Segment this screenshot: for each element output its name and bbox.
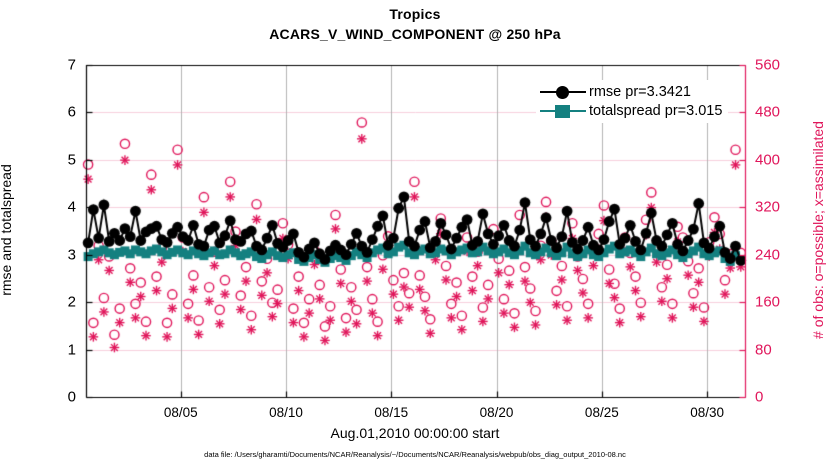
y-axis-label-right: # of obs: o=possible; x=assimilated	[810, 121, 826, 339]
y-tick-label-left: 2	[48, 294, 76, 311]
x-tick-label: 08/30	[690, 405, 724, 420]
legend-swatch-rmse	[540, 84, 586, 100]
y-tick-label-right: 320	[755, 199, 780, 216]
x-tick-label: 08/20	[480, 405, 514, 420]
x-tick-label: 08/25	[585, 405, 619, 420]
x-axis-label: Aug.01,2010 00:00:00 start	[0, 425, 830, 441]
x-tick-label: 08/15	[374, 405, 408, 420]
plot-legend: rmse pr=3.3421 totalspread pr=3.015	[536, 80, 728, 123]
y-tick-label-left: 4	[48, 199, 76, 216]
legend-item-totalspread[interactable]: totalspread pr=3.015	[540, 101, 722, 120]
x-tick-label: 08/10	[269, 405, 303, 420]
legend-item-rmse[interactable]: rmse pr=3.3421	[540, 82, 722, 101]
y-axis-label-left: rmse and totalspread	[0, 164, 14, 296]
y-tick-label-left: 0	[48, 389, 76, 406]
y-tick-label-left: 6	[48, 104, 76, 121]
y-tick-label-left: 1	[48, 341, 76, 358]
x-tick-label: 08/05	[164, 405, 198, 420]
legend-label-totalspread: totalspread pr=3.015	[589, 103, 722, 119]
y-tick-label-right: 80	[755, 341, 772, 358]
y-tick-label-left: 3	[48, 246, 76, 263]
data-file-footer: data file: /Users/gharamti/Documents/NCA…	[0, 450, 830, 459]
y-tick-label-right: 240	[755, 246, 780, 263]
y-tick-label-right: 560	[755, 57, 780, 74]
legend-label-rmse: rmse pr=3.3421	[589, 84, 691, 100]
y-tick-label-left: 7	[48, 57, 76, 74]
y-tick-label-right: 400	[755, 151, 780, 168]
y-tick-label-right: 160	[755, 294, 780, 311]
plot-canvas	[0, 0, 830, 470]
y-tick-label-right: 480	[755, 104, 780, 121]
y-tick-label-right: 0	[755, 389, 763, 406]
diagnostic-plot-figure: Tropics ACARS_V_WIND_COMPONENT @ 250 hPa…	[0, 0, 830, 470]
legend-swatch-totalspread	[540, 103, 586, 119]
y-tick-label-left: 5	[48, 151, 76, 168]
